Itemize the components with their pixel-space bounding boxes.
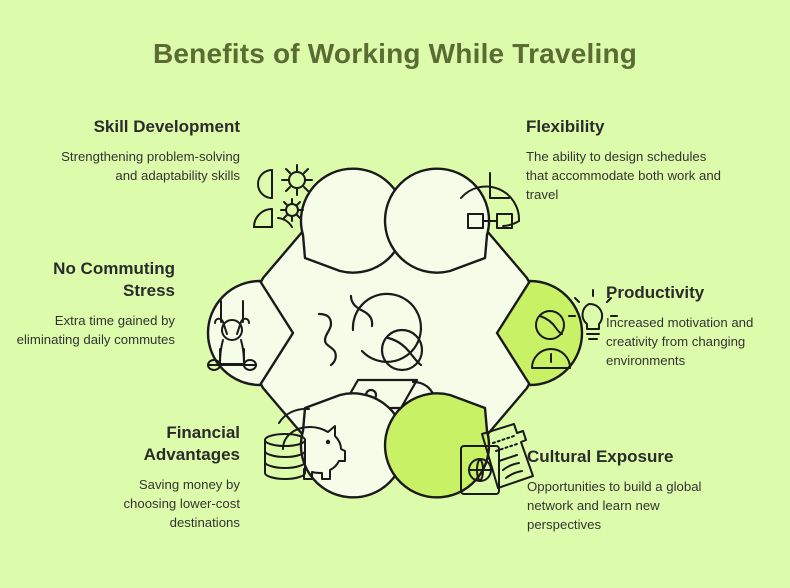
- benefit-text-financial-advantages: Financial Advantages Saving money by cho…: [100, 422, 240, 532]
- page-title: Benefits of Working While Traveling: [0, 38, 790, 70]
- benefit-body: Strengthening problem-solving and adapta…: [40, 147, 240, 186]
- benefit-heading: Cultural Exposure: [527, 446, 712, 468]
- benefit-heading: Flexibility: [526, 116, 726, 138]
- benefit-text-skill-development: Skill Development Strengthening problem-…: [40, 116, 240, 185]
- benefit-node-skill-development[interactable]: [254, 165, 405, 273]
- benefit-body: The ability to design schedules that acc…: [526, 147, 726, 205]
- benefit-heading: Skill Development: [40, 116, 240, 138]
- benefit-body: Increased motivation and creativity from…: [606, 313, 786, 371]
- benefit-body: Opportunities to build a global network …: [527, 477, 712, 535]
- pin-shape: [385, 169, 489, 273]
- benefit-heading: Productivity: [606, 282, 786, 304]
- benefit-text-flexibility: Flexibility The ability to design schedu…: [526, 116, 726, 205]
- infographic-canvas: Benefits of Working While Traveling: [0, 0, 790, 588]
- benefit-text-productivity: Productivity Increased motivation and cr…: [606, 282, 786, 371]
- benefit-node-cultural-exposure[interactable]: [385, 393, 533, 497]
- benefit-heading: No Commuting Stress: [10, 258, 175, 302]
- benefit-text-cultural-exposure: Cultural Exposure Opportunities to build…: [527, 446, 712, 535]
- benefit-text-no-commuting-stress: No Commuting Stress Extra time gained by…: [10, 258, 175, 349]
- benefit-heading: Financial Advantages: [100, 422, 240, 466]
- benefit-body: Saving money by choosing lower-cost dest…: [100, 475, 240, 533]
- benefit-body: Extra time gained by eliminating daily c…: [10, 311, 175, 350]
